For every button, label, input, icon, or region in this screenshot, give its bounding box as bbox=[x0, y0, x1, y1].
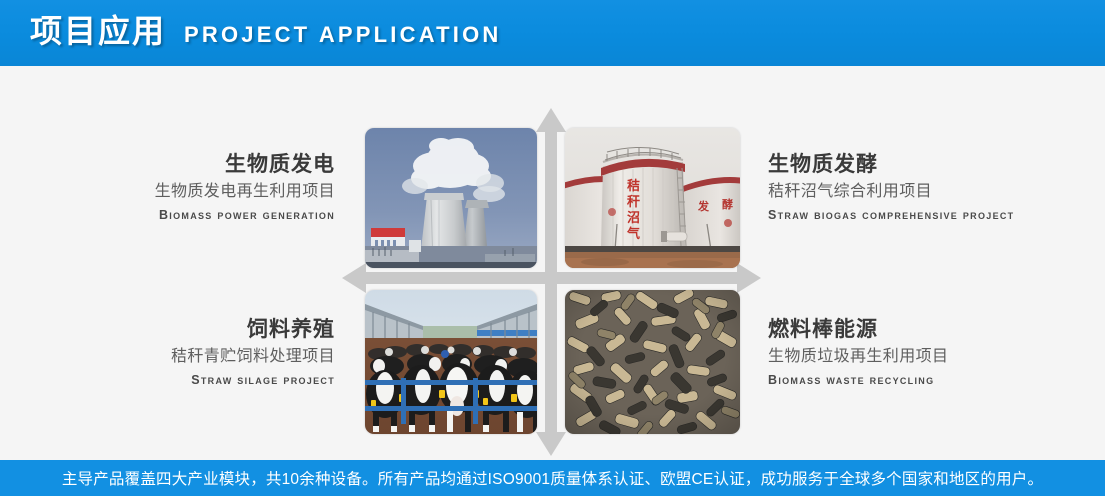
quadrant-title-cn: 燃料棒能源 bbox=[768, 316, 1088, 344]
quadrant-text-biomass-power-generation: 生物质发电 生物质发电再生利用项目 Biomass power generati… bbox=[40, 151, 335, 225]
footer-banner: 主导产品覆盖四大产业模块，共10余种设备。所有产品均通过ISO9001质量体系认… bbox=[0, 460, 1105, 496]
arrow-up-icon bbox=[536, 108, 566, 278]
quadrant-text-feed-breeding: 饲料养殖 秸秆青贮饲料处理项目 Straw silage project bbox=[40, 316, 335, 390]
quadrant-text-fuel-rod-energy: 燃料棒能源 生物质垃圾再生利用项目 Biomass waste recyclin… bbox=[768, 316, 1088, 390]
arrow-down-icon bbox=[536, 278, 566, 456]
quadrant-title-en: Biomass waste recycling bbox=[768, 370, 1088, 390]
svg-text:发: 发 bbox=[697, 199, 710, 213]
quadrant-subtitle-cn: 生物质发电再生利用项目 bbox=[40, 179, 335, 205]
quadrant-subtitle-cn: 秸秆沼气综合利用项目 bbox=[768, 179, 1088, 205]
quadrant-title-en: Biomass power generation bbox=[40, 205, 335, 225]
quadrant-title-cn: 生物质发电 bbox=[40, 151, 335, 179]
quadrant-subtitle-cn: 秸秆青贮饲料处理项目 bbox=[40, 344, 335, 370]
quadrant-title-en: Straw silage project bbox=[40, 370, 335, 390]
svg-text:秆: 秆 bbox=[627, 195, 640, 210]
quadrant-title-cn: 饲料养殖 bbox=[40, 316, 335, 344]
quadrant-title-cn: 生物质发酵 bbox=[768, 151, 1088, 179]
quadrant-image-fuel-rod-energy[interactable] bbox=[565, 290, 740, 434]
page-title-cn: 项目应用 bbox=[30, 11, 166, 51]
header-title-group: 项目应用 PROJECT APPLICATION bbox=[30, 11, 502, 55]
svg-text:沼: 沼 bbox=[627, 211, 640, 226]
svg-text:气: 气 bbox=[627, 226, 640, 242]
footer-text: 主导产品覆盖四大产业模块，共10余种设备。所有产品均通过ISO9001质量体系认… bbox=[62, 467, 1043, 489]
quadrant-image-biomass-fermentation[interactable]: 发 酵 秸 秆 沼 气 bbox=[565, 128, 740, 268]
svg-text:酵: 酵 bbox=[722, 197, 733, 211]
quadrant-text-biomass-fermentation: 生物质发酵 秸秆沼气综合利用项目 Straw biogas comprehens… bbox=[768, 151, 1088, 225]
quadrant-subtitle-cn: 生物质垃圾再生利用项目 bbox=[768, 344, 1088, 370]
svg-text:秸: 秸 bbox=[627, 178, 640, 194]
quadrant-image-biomass-power-generation[interactable] bbox=[365, 128, 537, 268]
project-application-diagram: 发 酵 秸 秆 沼 气 bbox=[0, 66, 1105, 460]
quadrant-image-feed-breeding[interactable] bbox=[365, 290, 537, 434]
page-header: 项目应用 PROJECT APPLICATION bbox=[0, 0, 1105, 66]
quadrant-title-en: Straw biogas comprehensive project bbox=[768, 205, 1088, 225]
page-title-en: PROJECT APPLICATION bbox=[184, 15, 502, 55]
